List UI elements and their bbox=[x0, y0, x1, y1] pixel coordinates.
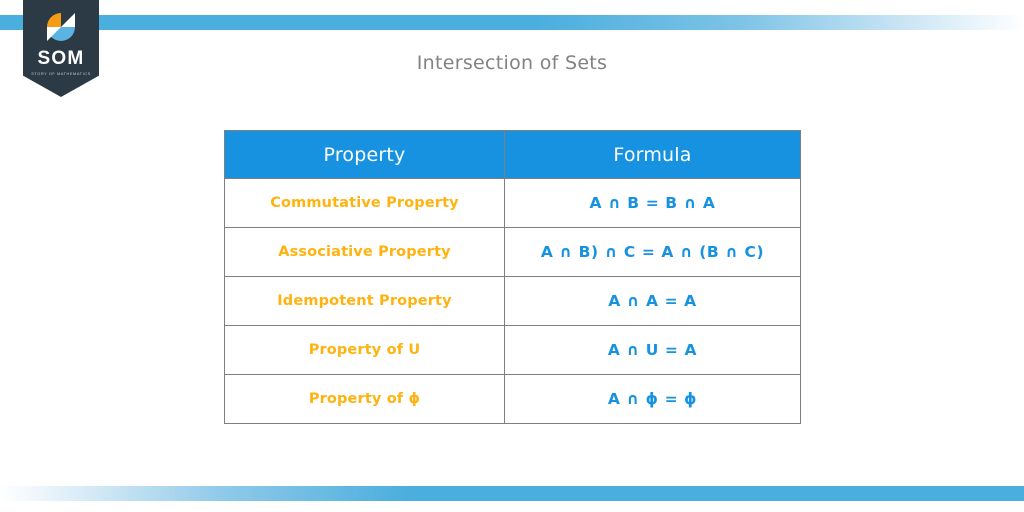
property-name: Idempotent Property bbox=[225, 277, 505, 326]
bottom-accent-band bbox=[0, 486, 1024, 501]
som-lightning-icon bbox=[44, 10, 78, 44]
property-name: Commutative Property bbox=[225, 179, 505, 228]
table-row: Associative Property A ∩ B) ∩ C = A ∩ (B… bbox=[225, 228, 801, 277]
table-row: Property of U A ∩ U = A bbox=[225, 326, 801, 375]
page-title: Intersection of Sets bbox=[0, 52, 1024, 74]
property-formula: A ∩ U = A bbox=[505, 326, 801, 375]
property-formula: A ∩ A = A bbox=[505, 277, 801, 326]
table-row: Idempotent Property A ∩ A = A bbox=[225, 277, 801, 326]
property-name: Associative Property bbox=[225, 228, 505, 277]
property-formula: A ∩ ϕ = ϕ bbox=[505, 375, 801, 424]
property-formula: A ∩ B = B ∩ A bbox=[505, 179, 801, 228]
top-accent-band bbox=[0, 15, 1024, 30]
som-logo: SOM STORY OF MATHEMATICS bbox=[23, 0, 99, 97]
table-row: Commutative Property A ∩ B = B ∩ A bbox=[225, 179, 801, 228]
table-header-row: Property Formula bbox=[225, 131, 801, 179]
table-row: Property of ϕ A ∩ ϕ = ϕ bbox=[225, 375, 801, 424]
intersection-properties-table: Property Formula Commutative Property A … bbox=[224, 130, 800, 424]
column-header-formula: Formula bbox=[505, 131, 801, 179]
property-name: Property of U bbox=[225, 326, 505, 375]
property-formula: A ∩ B) ∩ C = A ∩ (B ∩ C) bbox=[505, 228, 801, 277]
property-name: Property of ϕ bbox=[225, 375, 505, 424]
column-header-property: Property bbox=[225, 131, 505, 179]
